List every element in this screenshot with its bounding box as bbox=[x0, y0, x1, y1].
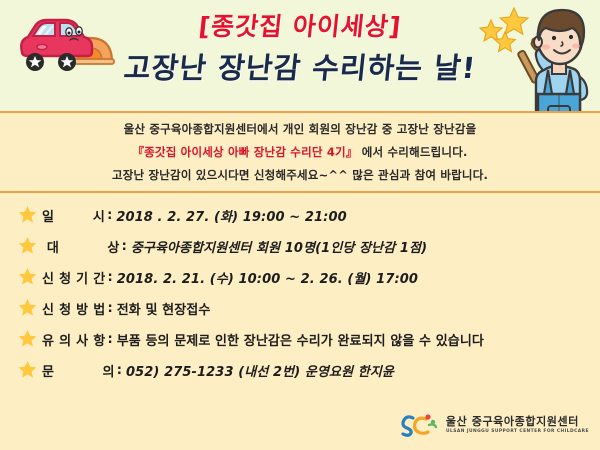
detail-colon-application-period: : bbox=[106, 270, 117, 285]
detail-row-application-method: 신 청 방 법 : 전화 및 현장접수 bbox=[0, 293, 600, 324]
event-poster: [종갓집 아이세상] 고장난 장난감 수리하는 날! bbox=[0, 0, 600, 450]
star-bullet-icon bbox=[18, 298, 37, 317]
detail-label-application-period: 신 청 기 간 bbox=[42, 268, 106, 287]
star-bullet-icon bbox=[18, 205, 37, 224]
sc-swoosh-logo-icon bbox=[399, 412, 439, 438]
star-bullet-icon bbox=[18, 329, 37, 348]
detail-value-target: 중구육아종합지원센터 회원 10명(1인당 장난감 1점) bbox=[131, 237, 600, 256]
logo-korean-name: 울산 중구육아종합지원센터 bbox=[446, 415, 586, 428]
logo-english-name: ULSAN JUNGGU SUPPORT CENTER FOR CHILDCAR… bbox=[446, 428, 589, 435]
star-bullet-icon bbox=[18, 236, 37, 255]
detail-colon-date: : bbox=[105, 208, 116, 223]
detail-label-application-method: 신 청 방 법 bbox=[42, 299, 106, 318]
detail-row-date: 일 시 : 2018 . 2. 27. (화) 19:00 ~ 21:00 bbox=[0, 200, 600, 231]
detail-value-date: 2018 . 2. 27. (화) 19:00 ~ 21:00 bbox=[116, 206, 600, 225]
detail-row-target: 대 상 : 중구육아종합지원센터 회원 10명(1인당 장난감 1점) bbox=[0, 231, 600, 262]
detail-row-contact: 문 의 : 052) 275-1233 (내선 2번) 운영요원 한지윤 bbox=[0, 355, 600, 386]
detail-label-date: 일 시 bbox=[42, 206, 105, 225]
logo-text-block: 울산 중구육아종합지원센터 ULSAN JUNGGU SUPPORT CENTE… bbox=[446, 415, 586, 435]
detail-value-application-method: 전화 및 현장접수 bbox=[117, 299, 600, 318]
detail-label-notice: 유 의 사 항 bbox=[42, 330, 106, 349]
description-program-name: 『종갓집 아이세상 아빠 장난감 수리단 4기』 bbox=[132, 145, 357, 159]
center-logo: 울산 중구육아종합지원센터 ULSAN JUNGGU SUPPORT CENTE… bbox=[399, 412, 586, 438]
detail-colon-application-method: : bbox=[106, 301, 117, 316]
description-line-2: 『종갓집 아이세상 아빠 장난감 수리단 4기』 에서 수리해드립니다. bbox=[0, 141, 600, 164]
detail-row-notice: 유 의 사 항 : 부품 등의 문제로 인한 장난감은 수리가 완료되지 않을 … bbox=[0, 324, 600, 355]
star-bullet-icon bbox=[18, 267, 37, 286]
detail-value-application-period: 2018. 2. 21. (수) 10:00 ~ 2. 26. (월) 17:0… bbox=[117, 268, 600, 287]
poster-header-band: [종갓집 아이세상] 고장난 장난감 수리하는 날! bbox=[0, 0, 600, 111]
detail-label-contact: 문 의 bbox=[42, 361, 115, 380]
detail-value-contact: 052) 275-1233 (내선 2번) 운영요원 한지윤 bbox=[126, 361, 600, 380]
description-line-2-tail: 에서 수리해드립니다. bbox=[358, 145, 468, 159]
sad-car-icon bbox=[8, 6, 120, 78]
star-bullet-icon bbox=[18, 360, 37, 379]
event-detail-list: 일 시 : 2018 . 2. 27. (화) 19:00 ~ 21:00 대 … bbox=[0, 200, 600, 386]
description-line-3: 고장난 장난감이 있으시다면 신청해주세요~^^ 많은 관심과 참여 바랍니다. bbox=[0, 164, 600, 187]
detail-colon-target: : bbox=[120, 239, 131, 254]
detail-colon-notice: : bbox=[106, 332, 117, 347]
detail-colon-contact: : bbox=[115, 363, 126, 378]
repairman-with-hammer-icon bbox=[508, 2, 600, 111]
detail-value-notice: 부품 등의 문제로 인한 장난감은 수리가 완료되지 않을 수 있습니다 bbox=[117, 330, 600, 349]
detail-label-target: 대 상 bbox=[42, 237, 120, 256]
detail-row-application-period: 신 청 기 간 : 2018. 2. 21. (수) 10:00 ~ 2. 26… bbox=[0, 262, 600, 293]
description-box: 울산 중구육아종합지원센터에서 개인 회원의 장난감 중 고장난 장난감을 『종… bbox=[0, 111, 600, 193]
description-line-1: 울산 중구육아종합지원센터에서 개인 회원의 장난감 중 고장난 장난감을 bbox=[0, 118, 600, 141]
